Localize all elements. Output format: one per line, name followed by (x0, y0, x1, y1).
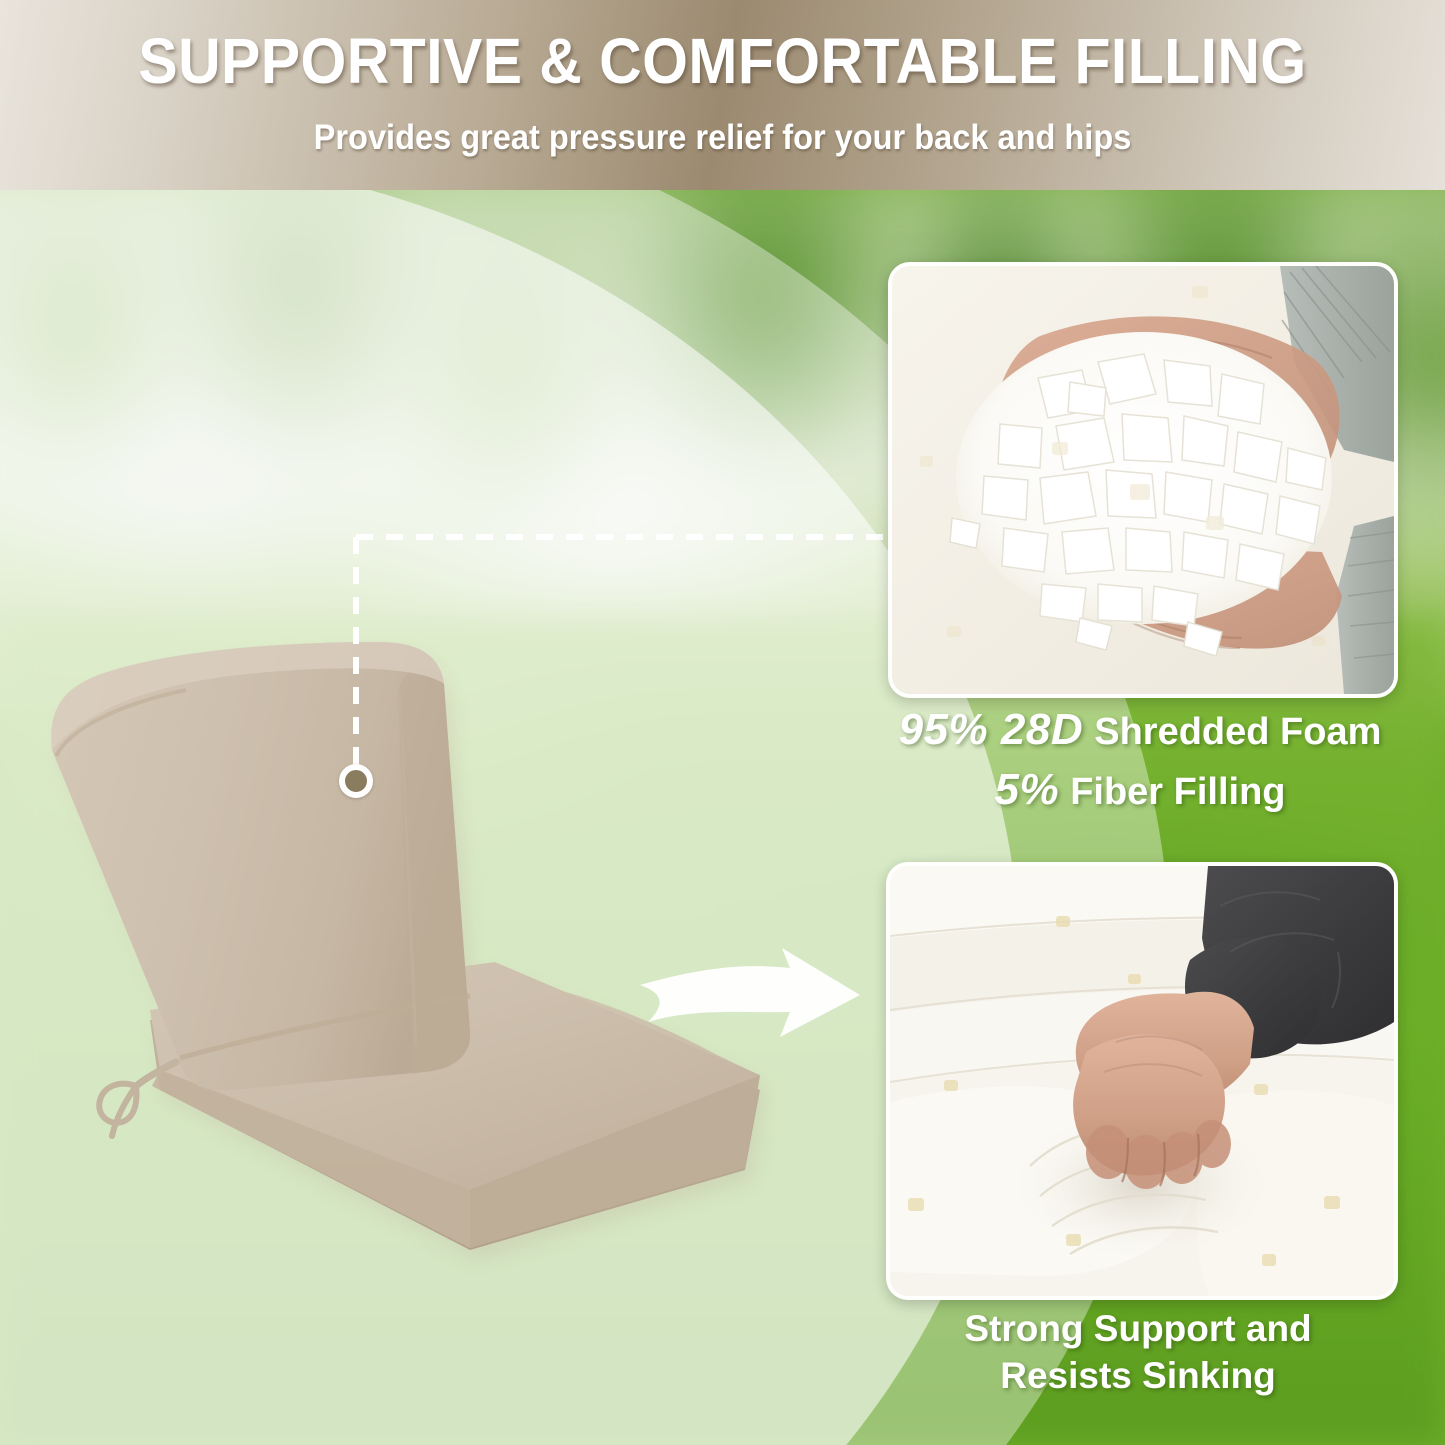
bottom-caption-line1: Strong Support and (886, 1305, 1390, 1352)
product-feature-image: SUPPORTIVE & COMFORTABLE FILLING Provide… (0, 0, 1445, 1445)
spec-foam-label: Shredded Foam (1094, 711, 1381, 753)
spec-line-shredded-foam: 95% 28D Shredded Foam (888, 705, 1392, 755)
photo-panel-shredded-foam (888, 262, 1398, 698)
marker-dot-cushion (339, 764, 373, 798)
header-banner: SUPPORTIVE & COMFORTABLE FILLING Provide… (0, 0, 1445, 192)
spec-foam-percent: 95% 28D (899, 705, 1084, 754)
banner-title: SUPPORTIVE & COMFORTABLE FILLING (58, 24, 1387, 98)
spec-fiber-percent: 5% (994, 765, 1059, 814)
spec-line-fiber-filling: 5% Fiber Filling (888, 765, 1392, 815)
bottom-caption: Strong Support and Resists Sinking (886, 1305, 1390, 1400)
photo-panel-fist-press (886, 862, 1398, 1300)
spec-fiber-label: Fiber Filling (1070, 771, 1285, 813)
bottom-caption-line2: Resists Sinking (886, 1352, 1390, 1399)
product-cushion-image (0, 190, 820, 1290)
banner-subtitle: Provides great pressure relief for your … (51, 118, 1395, 158)
